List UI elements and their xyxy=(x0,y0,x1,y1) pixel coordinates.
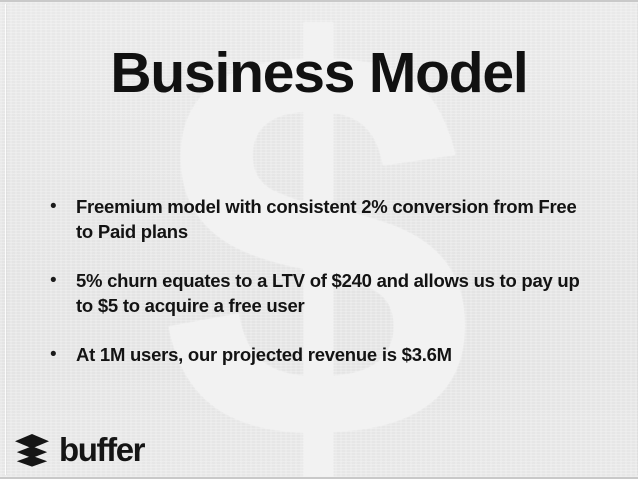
bullet-marker-icon: • xyxy=(46,342,76,367)
list-item-text: At 1M users, our projected revenue is $3… xyxy=(76,342,592,367)
list-item: • Freemium model with consistent 2% conv… xyxy=(46,194,612,244)
buffer-wordmark: buffer xyxy=(59,433,144,467)
list-item: • At 1M users, our projected revenue is … xyxy=(46,342,612,367)
bullet-marker-icon: • xyxy=(46,194,76,219)
buffer-layers-icon xyxy=(14,433,50,467)
presentation-slide: $ Business Model • Freemium model with c… xyxy=(0,0,638,479)
bullet-marker-icon: • xyxy=(46,268,76,293)
buffer-logo: buffer xyxy=(14,433,144,467)
page-title: Business Model xyxy=(0,44,638,104)
list-item: • 5% churn equates to a LTV of $240 and … xyxy=(46,268,612,318)
bullet-list: • Freemium model with consistent 2% conv… xyxy=(46,194,612,367)
list-item-text: 5% churn equates to a LTV of $240 and al… xyxy=(76,268,592,318)
slide-content: Business Model • Freemium model with con… xyxy=(0,2,638,477)
list-item-text: Freemium model with consistent 2% conver… xyxy=(76,194,592,244)
